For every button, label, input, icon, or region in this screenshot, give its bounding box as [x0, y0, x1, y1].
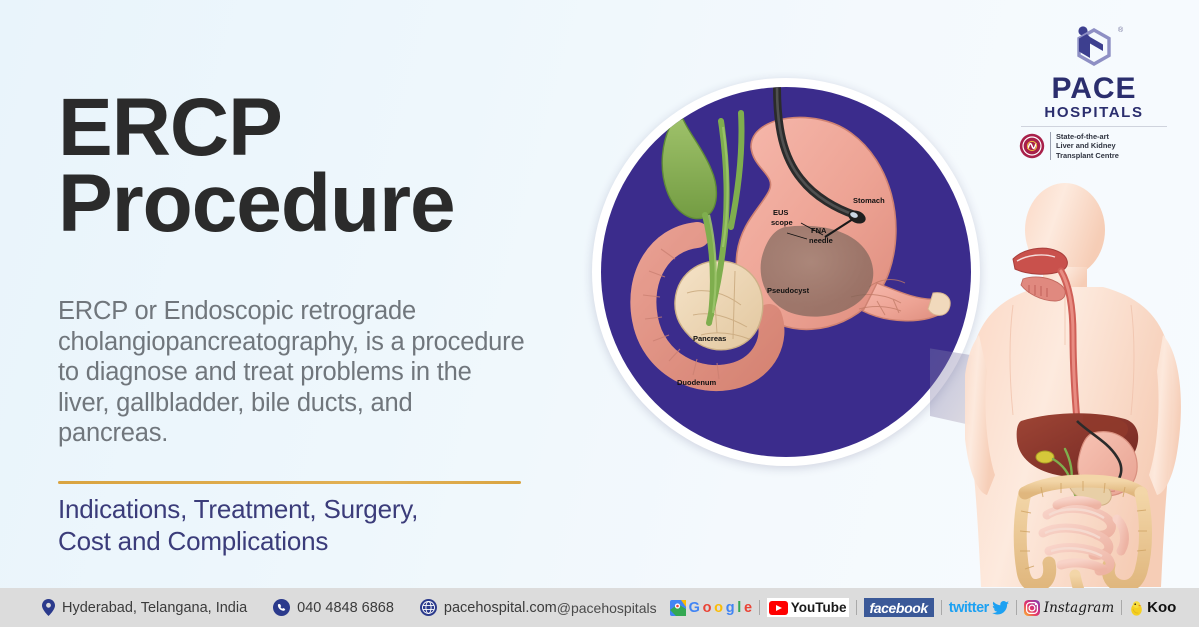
social-badge-instagram[interactable]: Instagram [1024, 598, 1114, 617]
footer-location: Hyderabad, Telangana, India [42, 599, 247, 616]
social-separator [1016, 600, 1017, 615]
human-digestive-figure [965, 175, 1199, 595]
instagram-label: Instagram [1044, 600, 1114, 616]
youtube-play-icon [769, 601, 788, 615]
koo-bird-icon [1129, 600, 1144, 616]
gold-divider [58, 481, 521, 484]
tagline-line-1: State-of-the-art [1056, 132, 1119, 141]
footer-contact-group: Hyderabad, Telangana, India 040 4848 686… [0, 599, 557, 616]
twitter-label: twitter [949, 600, 989, 616]
google-letter-4: l [737, 600, 741, 616]
google-letter-0: G [689, 600, 700, 616]
social-badge-google[interactable]: Google [670, 598, 752, 617]
ercp-illustration-circle: Stomach EUS scope FNA needle Pseudocyst … [592, 78, 980, 466]
footer-location-text: Hyderabad, Telangana, India [62, 600, 247, 616]
social-separator [941, 600, 942, 615]
logo-divider [1021, 126, 1167, 127]
hero-paragraph: ERCP or Endoscopic retrograde cholangiop… [58, 296, 528, 449]
eus-anatomy-diagram: Stomach EUS scope FNA needle Pseudocyst … [601, 87, 971, 457]
hero-subtitle: Indications, Treatment, Surgery, Cost an… [58, 494, 558, 557]
label-fna-line2: needle [809, 236, 833, 245]
label-eus-line2: scope [771, 218, 793, 227]
social-separator [856, 600, 857, 615]
brand-logo: ® PACE HOSPITALS State-of-the-art Liver … [1019, 22, 1169, 160]
tagline-line-3: Transplant Centre [1056, 151, 1119, 160]
transplant-seal-icon [1019, 133, 1045, 159]
globe-icon [420, 599, 437, 616]
logo-wordmark-hospitals: HOSPITALS [1019, 105, 1169, 120]
footer-website[interactable]: pacehospital.com [420, 599, 557, 616]
svg-text:®: ® [1118, 26, 1124, 34]
hero-subtitle-line-2: Cost and Complications [58, 526, 558, 558]
social-separator [1121, 600, 1122, 615]
footer-bar: Hyderabad, Telangana, India 040 4848 686… [0, 588, 1199, 627]
social-badge-koo[interactable]: Koo [1129, 598, 1176, 617]
tagline-text: State-of-the-art Liver and Kidney Transp… [1056, 132, 1119, 160]
google-letter-5: e [744, 600, 752, 616]
google-letter-3: g [726, 600, 735, 616]
google-maps-icon [670, 600, 686, 616]
hero-subtitle-line-1: Indications, Treatment, Surgery, [58, 494, 558, 526]
label-pseudocyst: Pseudocyst [767, 286, 810, 295]
phone-icon [273, 599, 290, 616]
social-badge-facebook[interactable]: facebook [864, 598, 934, 617]
social-separator [759, 600, 760, 615]
label-stomach: Stomach [853, 196, 885, 205]
youtube-label: YouTube [791, 600, 847, 615]
circle-purple-fill: Stomach EUS scope FNA needle Pseudocyst … [601, 87, 971, 457]
label-eus-line1: EUS [773, 208, 788, 217]
social-badge-twitter[interactable]: twitter [949, 598, 1009, 617]
tagline-rule [1050, 132, 1051, 160]
transplant-centre-tagline: State-of-the-art Liver and Kidney Transp… [1019, 132, 1169, 160]
pace-logo-mark: ® [1019, 22, 1169, 74]
footer-phone-text: 040 4848 6868 [297, 600, 394, 616]
label-duodenum: Duodenum [677, 378, 716, 387]
footer-social-group: @pacehospitals Google YouTube facebook t… [557, 598, 1199, 617]
twitter-bird-icon [992, 601, 1009, 615]
location-pin-icon [42, 599, 55, 616]
logo-wordmark-pace: PACE [1019, 74, 1169, 104]
koo-label: Koo [1147, 599, 1176, 616]
footer-website-text: pacehospital.com [444, 600, 557, 616]
page-title: ERCP Procedure [58, 90, 578, 243]
social-handle: @pacehospitals [557, 600, 657, 616]
label-fna-line1: FNA [811, 226, 827, 235]
google-letter-2: o [714, 600, 723, 616]
page-title-line-2: Procedure [58, 166, 578, 242]
google-letter-1: o [703, 600, 712, 616]
label-pancreas: Pancreas [693, 334, 726, 343]
footer-phone[interactable]: 040 4848 6868 [273, 599, 394, 616]
instagram-camera-icon [1024, 600, 1040, 616]
tagline-line-2: Liver and Kidney [1056, 141, 1119, 150]
social-badge-youtube[interactable]: YouTube [767, 598, 849, 617]
